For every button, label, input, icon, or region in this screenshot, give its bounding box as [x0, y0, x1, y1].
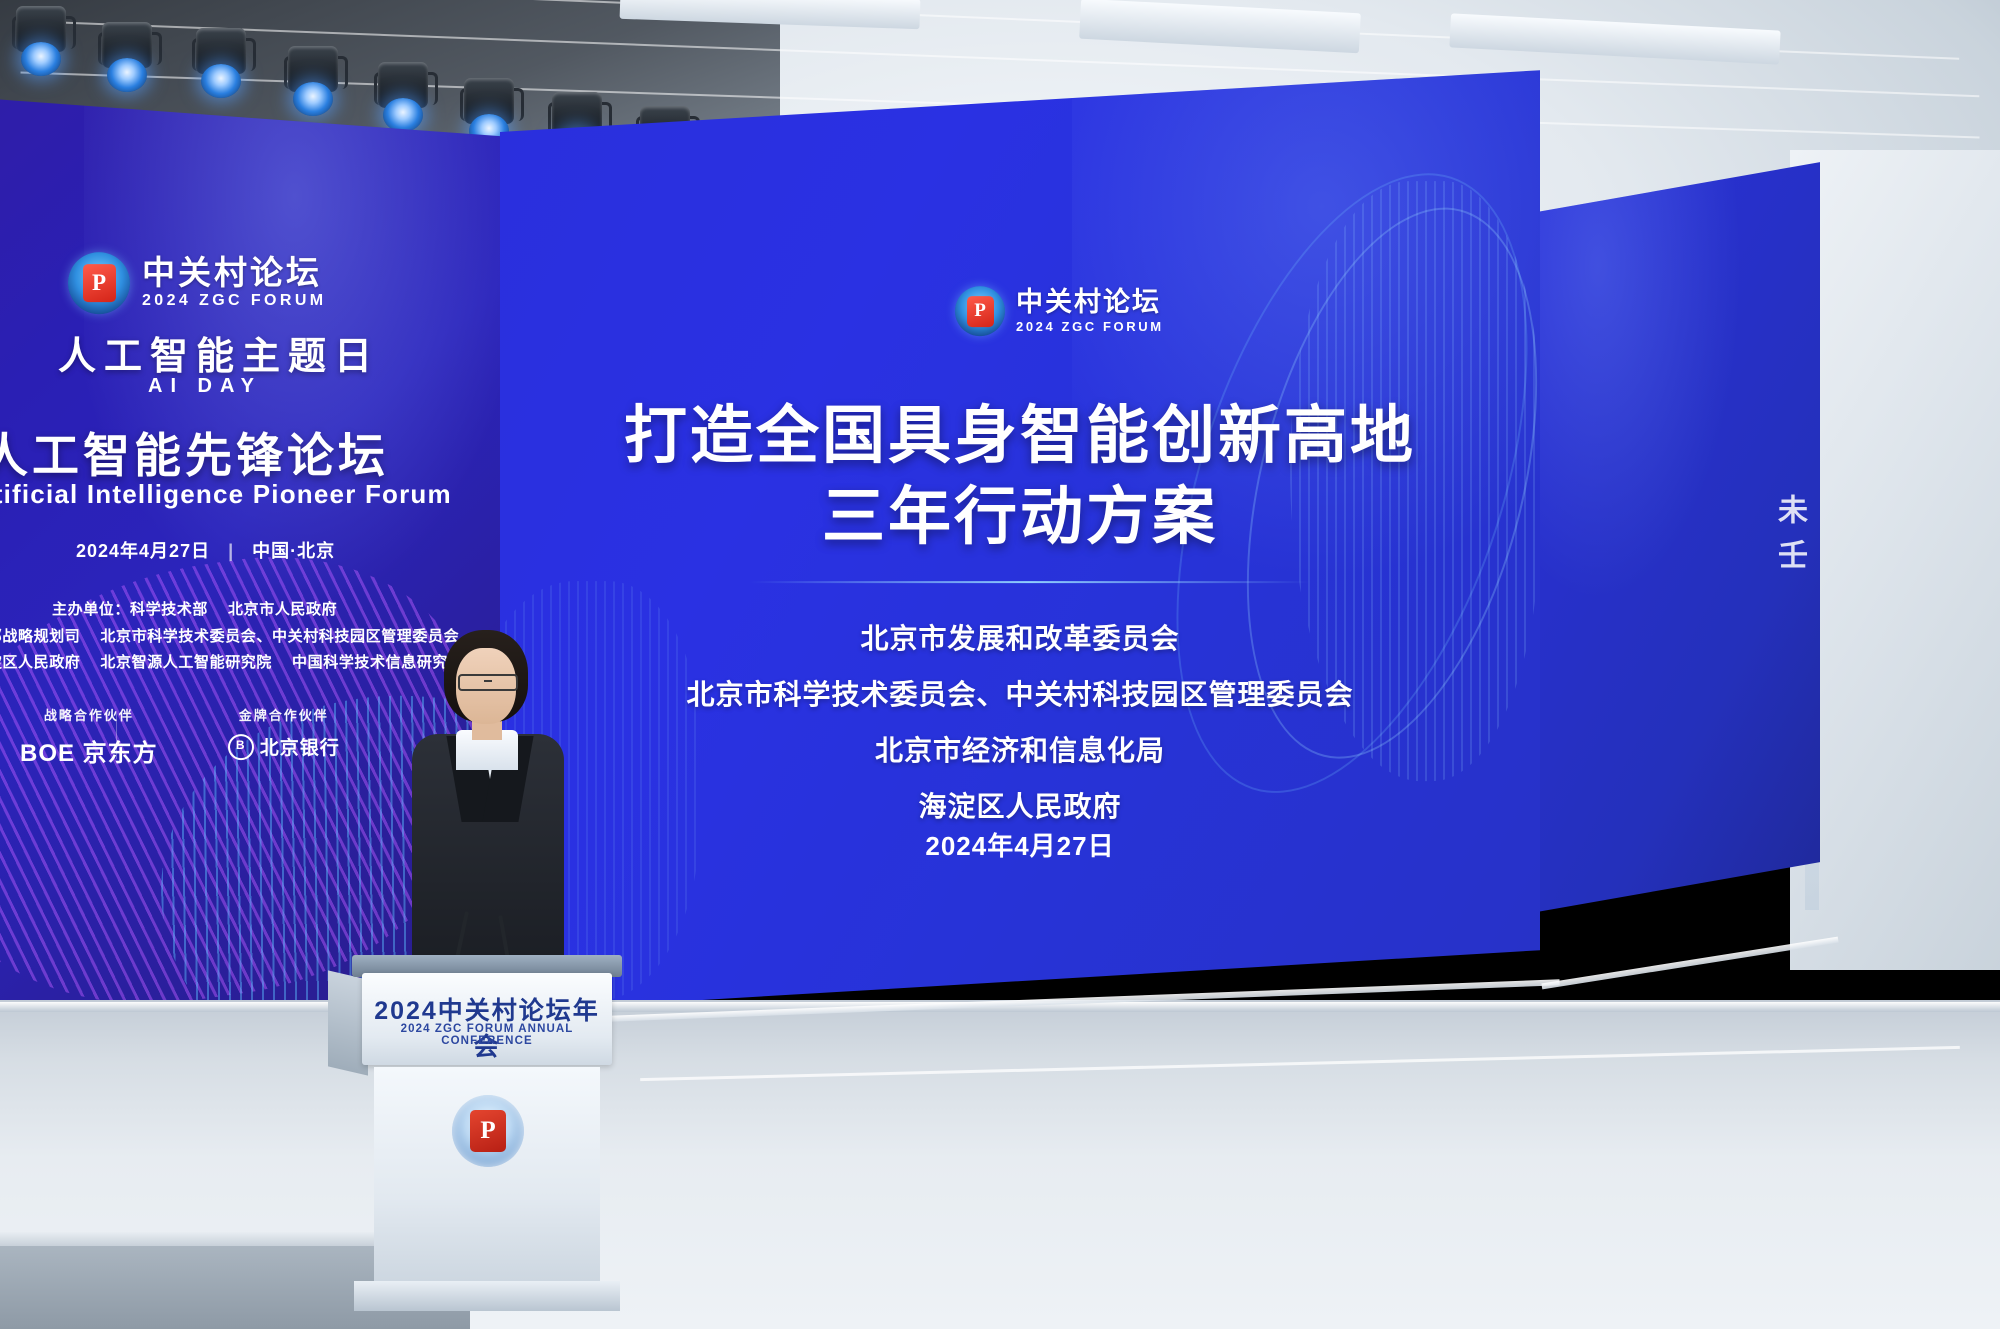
boe-logo-icon: BOE 京东方 — [20, 733, 158, 768]
left-subheading-en: re Artificial Intelligence Pioneer Forum — [0, 479, 452, 510]
moving-head-spotlight — [372, 62, 434, 136]
bank-of-beijing-logo-icon: B — [228, 734, 254, 760]
left-date-row: 2024年4月27日 | 中国·北京 — [76, 537, 335, 563]
left-heading-en: AI DAY — [148, 375, 262, 398]
organizer-line: 北京市发展和改革委员会 — [500, 611, 1540, 667]
zgc-logo-en: 2024 ZGC FORUM — [1016, 319, 1164, 334]
podium: 2024中关村论坛年会 2024 ZGC FORUM ANNUAL CONFER… — [352, 955, 622, 1329]
moving-head-spotlight — [190, 28, 252, 102]
zgc-logo-cn: 中关村论坛 — [142, 256, 327, 291]
partner-brand: BOE 京东方 — [20, 733, 158, 768]
moving-head-spotlight — [96, 22, 158, 96]
partner-brand: B 北京银行 — [228, 733, 340, 760]
speaker-person — [398, 630, 578, 970]
organizer-item: 学技术部战略规划司 — [0, 628, 80, 645]
main-screen-organizers: 北京市发展和改革委员会 北京市科学技术委员会、中关村科技园区管理委员会 北京市经… — [500, 611, 1540, 835]
led-screen-main: P 中关村论坛 2024 ZGC FORUM 打造全国具身智能创新高地 三年行动… — [500, 70, 1540, 1012]
partner-title: 战略合作伙伴 — [20, 705, 158, 724]
left-date-separator: | — [228, 541, 234, 561]
podium-emblem-icon: P — [452, 1095, 524, 1167]
organizer-row: 主办单位：科学技术部北京市人民政府 — [0, 597, 500, 624]
conference-stage-photo: 未 壬 P 中关村论坛 2024 ZGC FORUM — [0, 0, 2000, 1329]
led-screen-far-right: 未 壬 — [1520, 162, 1820, 915]
organizer-item: 北京智源人工智能研究院 — [100, 654, 272, 671]
main-title-line-2: 三年行动方案 — [500, 477, 1540, 558]
organizer-label: 主办单位： — [52, 601, 130, 618]
left-heading-cn: 人工智能主题日 — [58, 325, 380, 380]
zgc-logo-en: 2024 ZGC FORUM — [142, 292, 327, 310]
organizer-item: 科学技术部 — [130, 601, 208, 618]
partner-brand-name: 北京银行 — [260, 733, 340, 760]
zgc-forum-logo: P 中关村论坛 2024 ZGC FORUM — [955, 286, 1164, 336]
main-title-line-1: 打造全国具身智能创新高地 — [500, 396, 1540, 477]
glasses-icon — [458, 674, 518, 691]
partner-title: 金牌合作伙伴 — [228, 705, 340, 724]
zgc-logo-mark-icon: P — [955, 286, 1005, 336]
moving-head-spotlight — [10, 6, 72, 80]
podium-base — [354, 1281, 620, 1311]
left-location: 中国·北京 — [252, 541, 335, 561]
organizer-item: 北京市人民政府 — [228, 601, 337, 618]
moving-head-spotlight — [282, 46, 344, 120]
organizer-line: 北京市经济和信息化局 — [500, 723, 1540, 779]
room-wall-right — [1790, 150, 2000, 970]
main-screen-content: P 中关村论坛 2024 ZGC FORUM 打造全国具身智能创新高地 三年行动… — [500, 101, 1540, 981]
partner-block-gold: 金牌合作伙伴 B 北京银行 — [228, 705, 340, 768]
partner-block-strategic: 战略合作伙伴 BOE 京东方 — [20, 705, 158, 768]
left-subheading-cn: 来人工智能先锋论坛 — [0, 417, 389, 486]
organizer-line: 北京市科学技术委员会、中关村科技园区管理委员会 — [500, 667, 1540, 723]
podium-title-en: 2024 ZGC FORUM ANNUAL CONFERENCE — [362, 1023, 612, 1047]
far-screen-text: 未 壬 — [1778, 489, 1808, 579]
title-divider — [750, 581, 1310, 583]
main-screen-title: 打造全国具身智能创新高地 三年行动方案 — [500, 396, 1540, 557]
organizer-item: 京市海淀区人民政府 — [0, 654, 80, 671]
main-screen-date: 2024年4月27日 — [500, 826, 1540, 863]
zgc-logo-cn: 中关村论坛 — [1016, 288, 1164, 316]
zgc-forum-logo-left: P 中关村论坛 2024 ZGC FORUM — [68, 252, 327, 314]
zgc-logo-mark-icon: P — [68, 252, 130, 314]
left-date: 2024年4月27日 — [76, 541, 210, 561]
